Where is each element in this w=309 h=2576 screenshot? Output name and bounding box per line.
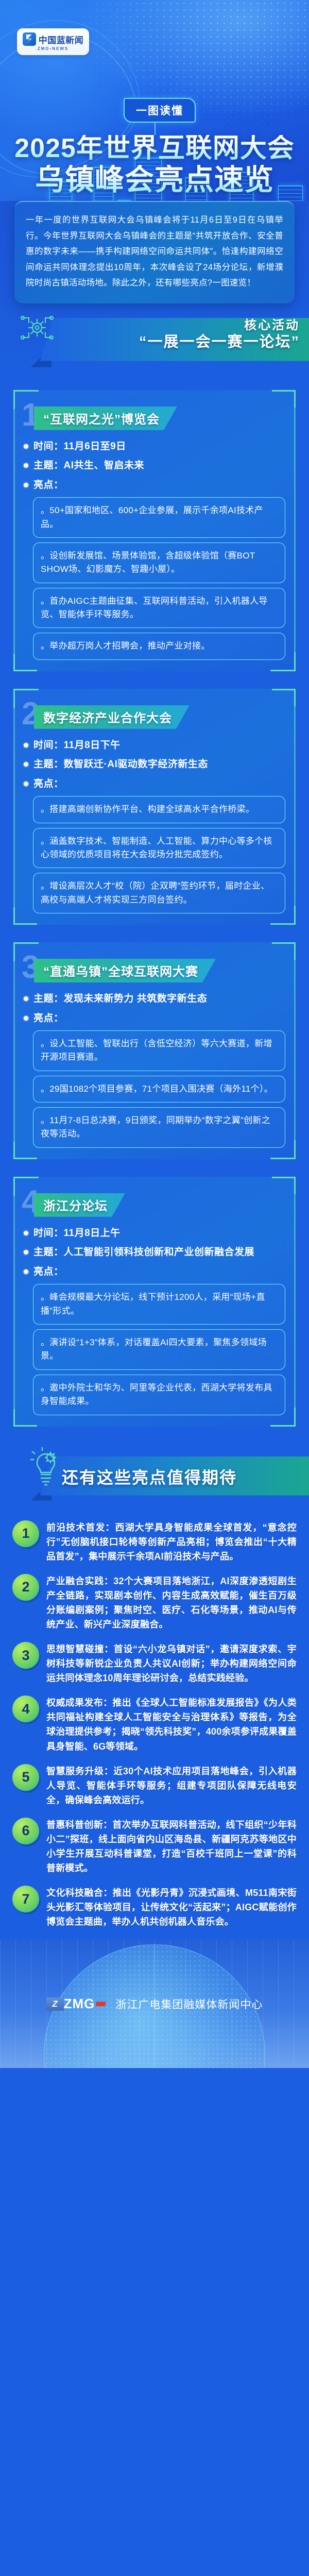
card-edge-right xyxy=(294,1194,296,1409)
section-bullet: 主题：人工智能引领科技创新和产业创新融合发展 xyxy=(24,1245,288,1260)
highlight-box: 。设创新发展馆、场景体验馆，含超级体验馆（赛BOT SHOW场、幻影魔方、智趣小… xyxy=(33,543,285,583)
point-text: 智慧服务升级：近30个AI技术应用项目落地峰会，引入机器人导览、智能体手环等服务… xyxy=(46,1764,297,1807)
footer-org-name: 浙江广电集团融媒体新闻中心 xyxy=(115,1996,263,2012)
highlight-text: 。涵盖数字技术、智能制造、人工智能、算力中心等多个核心领域的优质项目将在大会现场… xyxy=(41,835,278,862)
bullet-text: 主题：发现未来新势力 共筑数字新生态 xyxy=(33,992,207,1006)
bullet-text: 时间：11月6日至9日 xyxy=(33,439,126,454)
bullet-label: 亮点： xyxy=(33,480,64,490)
highlight-box: 。29国1082个项目参赛，71个项目入围决赛（海外11个）。 xyxy=(33,1076,285,1103)
bullet-dot-icon xyxy=(24,782,28,786)
section-title-pill: “直通乌镇”全球互联网大赛 xyxy=(34,959,216,982)
bullet-text: 主题：数智跃迁·AI驱动数字经济新生态 xyxy=(33,757,208,772)
footer-credit: Z ZMG 浙江广电集团融媒体新闻中心 xyxy=(0,1996,309,2012)
zmg-logo-mark xyxy=(23,32,36,46)
bullet-label: 主题： xyxy=(33,1247,64,1258)
core-section-card: 2数字经济产业合作大会时间：11月8日下午主题：数智跃迁·AI驱动数字经济新生态… xyxy=(13,689,296,925)
point-text: 普惠科普创新：首次举办互联网科普活动，线下组织“少年科小二”探班，线上面向省内山… xyxy=(46,1818,297,1875)
core-sections-list: 1“互联网之光”博览会时间：11月6日至9日主题：AI共生、智启未来亮点：。50… xyxy=(0,390,309,1427)
bullet-label: 亮点： xyxy=(33,778,64,789)
zmg-footer-dash xyxy=(96,2002,106,2006)
intro-card: 一年一度的世界互联网大会乌镇峰会将于11月6日至9日在乌镇举行。今年世界互联网大… xyxy=(14,201,295,303)
logo-cn-text: 中国蓝新闻 xyxy=(39,33,84,46)
section-title: “直通乌镇”全球互联网大赛 xyxy=(43,961,198,979)
point-number-badge: 7 xyxy=(12,1886,39,1912)
highlight-box: 。11月7-8日总决赛，9日颁奖，同期举办“数字之翼”创新之夜等活动。 xyxy=(33,1107,285,1148)
bullet-text: 主题：AI共生、智启未来 xyxy=(33,459,144,473)
bullet-label: 亮点： xyxy=(33,1266,64,1277)
highlight-text: 。首办AIGC主题曲征集、互联网科普活动，引入机器人导览、智能体手环等服务。 xyxy=(41,595,278,622)
section-bullet: 时间：11月8日上午 xyxy=(24,1226,288,1241)
point-number-badge: 3 xyxy=(12,1642,39,1669)
section-bullet: 亮点： xyxy=(24,777,288,791)
logo-en-news: NEWS xyxy=(52,46,68,51)
section-header: 3“直通乌镇”全球互联网大赛 xyxy=(21,955,288,985)
core-banner-text: 核心活动 “一展一会一赛一论坛” xyxy=(139,319,300,351)
point-number-badge: 5 xyxy=(12,1764,39,1791)
highlight-text: 。举办超万岗人才招聘会，推动产业对接。 xyxy=(41,639,278,653)
bullet-dot-icon xyxy=(24,1016,28,1021)
section-title: “互联网之光”博览会 xyxy=(43,409,160,427)
bullet-dot-icon xyxy=(24,1231,28,1235)
bullet-label: 主题： xyxy=(33,993,64,1004)
card-edge-right xyxy=(294,960,296,1142)
bullet-text: 亮点： xyxy=(33,777,64,791)
section-bullet: 亮点： xyxy=(24,478,288,493)
bullet-text: 时间：11月8日上午 xyxy=(33,1226,121,1241)
point-number-badge: 2 xyxy=(12,1574,39,1601)
point-text: 权威成果发布：推出《全球人工智能标准发展报告》《为人类共同福祉构建全球人工智能安… xyxy=(46,1696,297,1753)
section-bullet: 亮点： xyxy=(24,1265,288,1279)
highlight-box: 。增设高层次人才“校（院）企双聘”签约环节，届时企业、高校与高端人才将实现三方同… xyxy=(33,873,285,913)
section-bullet: 主题：AI共生、智启未来 xyxy=(24,459,288,473)
bullet-value: 发现未来新势力 共筑数字新生态 xyxy=(64,993,208,1004)
bullet-dot-icon xyxy=(24,743,28,748)
card-edge-left xyxy=(13,1194,15,1409)
bullet-dot-icon xyxy=(24,444,28,449)
bullet-label: 主题： xyxy=(33,460,64,471)
card-edge-left xyxy=(13,706,15,907)
highlight-text: 。增设高层次人才“校（院）企双聘”签约环节，届时企业、高校与高端人才将实现三方同… xyxy=(41,879,278,907)
highlight-text: 。设人工智能、智联出行（含低空经济）等六大赛道，新增开源项目赛道。 xyxy=(41,1037,278,1064)
intro-paragraph: 一年一度的世界互联网大会乌镇峰会将于11月6日至9日在乌镇举行。今年世界互联网大… xyxy=(26,212,283,291)
title-line-1: 2025年世界互联网大会 xyxy=(0,135,309,162)
card-edge-left xyxy=(13,408,15,654)
section-bullet: 时间：11月6日至9日 xyxy=(24,439,288,454)
bullet-text: 主题：人工智能引领科技创新和产业创新融合发展 xyxy=(33,1245,254,1260)
highlight-point-item: 1前沿技术首发：西湖大学具身智能成果全球首发，“意念控行”无创脑机接口轮椅等创新… xyxy=(12,1520,297,1564)
bullet-value: 数智跃迁·AI驱动数字经济新生态 xyxy=(64,759,208,770)
more-highlights-banner: 还有这些亮点值得期待 xyxy=(0,1444,309,1511)
highlight-text: 。搭建高端创新协作平台、构建全球高水平合作桥梁。 xyxy=(41,803,278,816)
bullet-label: 时间： xyxy=(33,740,64,751)
section-bullet: 时间：11月8日下午 xyxy=(24,738,288,753)
bullet-dot-icon xyxy=(24,1250,28,1255)
point-number-badge: 1 xyxy=(12,1520,39,1547)
zmg-footer-logo: Z ZMG xyxy=(46,1996,107,2012)
highlight-box: 。演讲设“1+3”体系，对话覆盖AI四大要素，聚焦多领域场景。 xyxy=(33,1329,285,1370)
section-bullet: 主题：发现未来新势力 共筑数字新生态 xyxy=(24,992,288,1006)
highlight-text: 。演讲设“1+3”体系，对话覆盖AI四大要素，聚焦多领域场景。 xyxy=(41,1336,278,1363)
logo-en-zmg: ZMG xyxy=(38,46,50,51)
core-section-card: 1“互联网之光”博览会时间：11月6日至9日主题：AI共生、智启未来亮点：。50… xyxy=(13,390,296,671)
bullet-dot-icon xyxy=(24,483,28,487)
bullet-text: 亮点： xyxy=(33,478,64,493)
bullet-value: 11月6日至9日 xyxy=(64,441,126,452)
logo-en-text: ZMG•NEWS xyxy=(38,46,69,51)
highlight-points-list: 1前沿技术首发：西湖大学具身智能成果全球首发，“意念控行”无创脑机接口轮椅等创新… xyxy=(0,1511,309,1929)
section-header: 4浙江分论坛 xyxy=(21,1189,288,1219)
bullet-label: 主题： xyxy=(33,759,64,770)
highlight-point-item: 4权威成果发布：推出《全球人工智能标准发展报告》《为人类共同福祉构建全球人工智能… xyxy=(12,1696,297,1753)
section-title-pill: 数字经济产业合作大会 xyxy=(34,705,190,729)
point-text: 思想智慧碰撞：首设“六小龙乌镇对话”，邀请深度求索、宇树科技等新锐企业负责人共议… xyxy=(46,1642,297,1685)
highlight-box: 。峰会规模最大分论坛，线下预计1200人，采用“现场+直播”形式。 xyxy=(33,1284,285,1325)
highlight-box: 。邀中外院士和华为、阿里等企业代表，西湖大学将发布具身智能成果。 xyxy=(33,1375,285,1415)
core-section-card: 3“直通乌镇”全球互联网大赛主题：发现未来新势力 共筑数字新生态亮点：。设人工智… xyxy=(13,942,296,1159)
card-corner-bottom-left xyxy=(13,1409,37,1427)
bullet-dot-icon xyxy=(24,1269,28,1274)
card-corner-bottom-left xyxy=(13,1142,37,1159)
chip-gear-icon xyxy=(19,312,56,344)
section-header: 2数字经济产业合作大会 xyxy=(21,701,288,731)
read-in-one-image-badge: 一图读懂 xyxy=(124,98,196,123)
bullet-text: 亮点： xyxy=(33,1011,64,1026)
point-text: 前沿技术首发：西湖大学具身智能成果全球首发，“意念控行”无创脑机接口轮椅等创新产… xyxy=(46,1520,297,1564)
point-number-badge: 6 xyxy=(12,1818,39,1844)
section-title: 数字经济产业合作大会 xyxy=(43,708,172,726)
highlight-text: 。设创新发展馆、场景体验馆，含超级体验馆（赛BOT SHOW场、幻影魔方、智趣小… xyxy=(41,549,278,577)
point-number-badge: 4 xyxy=(12,1696,39,1722)
core-activity-banner: 核心活动 “一展一会一赛一论坛” xyxy=(0,309,309,381)
section-title: 浙江分论坛 xyxy=(43,1196,108,1214)
more-banner-title: 还有这些亮点值得期待 xyxy=(62,1465,237,1488)
bullet-dot-icon xyxy=(24,463,28,468)
zmg-footer-mark: Z xyxy=(46,1997,64,2011)
zmg-news-logo: 中国蓝新闻 ZMG•NEWS xyxy=(17,28,89,55)
bullet-text: 时间：11月8日下午 xyxy=(33,738,121,753)
highlight-box: 。50+国家和地区、600+企业参展，展示千余项AI技术产品。 xyxy=(33,497,285,538)
card-edge-left xyxy=(13,960,15,1142)
bullet-label: 时间： xyxy=(33,441,64,452)
bullet-text: 亮点： xyxy=(33,1265,64,1279)
highlight-text: 。29国1082个项目参赛，71个项目入围决赛（海外11个）。 xyxy=(41,1082,278,1096)
section-bullet: 亮点： xyxy=(24,1011,288,1026)
core-section-card: 4浙江分论坛时间：11月8日上午主题：人工智能引领科技创新和产业创新融合发展亮点… xyxy=(13,1177,296,1427)
zmg-footer-initial: Z xyxy=(52,1999,57,2009)
highlight-text: 。50+国家和地区、600+企业参展，展示千余项AI技术产品。 xyxy=(41,504,278,531)
page-title: 2025年世界互联网大会 乌镇峰会亮点速览 xyxy=(0,135,309,195)
zmg-footer-text: ZMG xyxy=(64,1996,95,2012)
highlight-box: 。搭建高端创新协作平台、构建全球高水平合作桥梁。 xyxy=(33,796,285,823)
card-corner-bottom-left xyxy=(13,907,37,925)
point-text: 产业融合实践：32个大赛项目落地浙江，AI深度渗透短剧生产全链路，实现剧本创作、… xyxy=(46,1574,297,1632)
bullet-value: 人工智能引领科技创新和产业创新融合发展 xyxy=(64,1247,255,1258)
section-bullet: 主题：数智跃迁·AI驱动数字经济新生态 xyxy=(24,757,288,772)
bullet-dot-icon xyxy=(24,762,28,767)
highlight-text: 。邀中外院士和华为、阿里等企业代表，西湖大学将发布具身智能成果。 xyxy=(41,1381,278,1409)
section-header: 1“互联网之光”博览会 xyxy=(21,402,288,432)
lightbulb-gear-icon xyxy=(27,1444,65,1488)
highlight-point-item: 2产业融合实践：32个大赛项目落地浙江，AI深度渗透短剧生产全链路，实现剧本创作… xyxy=(12,1574,297,1632)
highlight-box: 。设人工智能、智联出行（含低空经济）等六大赛道，新增开源项目赛道。 xyxy=(33,1030,285,1071)
card-edge-right xyxy=(294,408,296,654)
core-banner-line-1: 核心活动 xyxy=(139,319,300,332)
highlight-text: 。峰会规模最大分论坛，线下预计1200人，采用“现场+直播”形式。 xyxy=(41,1291,278,1318)
page-footer: Z ZMG 浙江广电集团融媒体新闻中心 xyxy=(0,1939,309,2068)
card-edge-right xyxy=(294,706,296,907)
point-text: 文化科技融合：推出《光影丹青》沉浸式画境、M511南宋街头光影汇等体验项目，让传… xyxy=(46,1886,297,1929)
bullet-value: 11月8日下午 xyxy=(64,740,121,751)
highlight-box: 。涵盖数字技术、智能制造、人工智能、算力中心等多个核心领域的优质项目将在大会现场… xyxy=(33,828,285,869)
highlight-point-item: 6普惠科普创新：首次举办互联网科普活动，线下组织“少年科小二”探班，线上面向省内… xyxy=(12,1818,297,1875)
bullet-label: 时间： xyxy=(33,1228,64,1239)
bullet-label: 亮点： xyxy=(33,1013,64,1024)
highlight-point-item: 5智慧服务升级：近30个AI技术应用项目落地峰会，引入机器人导览、智能体手环等服… xyxy=(12,1764,297,1807)
bullet-value: AI共生、智启未来 xyxy=(64,460,145,471)
highlight-box: 。举办超万岗人才招聘会，推动产业对接。 xyxy=(33,633,285,659)
highlight-text: 。11月7-8日总决赛，9日颁奖，同期举办“数字之翼”创新之夜等活动。 xyxy=(41,1114,278,1141)
highlight-point-item: 3思想智慧碰撞：首设“六小龙乌镇对话”，邀请深度求索、宇树科技等新锐企业负责人共… xyxy=(12,1642,297,1685)
title-line-2: 乌镇峰会亮点速览 xyxy=(0,165,309,195)
bullet-value: 11月8日上午 xyxy=(64,1228,121,1239)
intro-section: 一年一度的世界互联网大会乌镇峰会将于11月6日至9日在乌镇举行。今年世界互联网大… xyxy=(0,201,309,390)
core-banner-line-2: “一展一会一赛一论坛” xyxy=(139,333,300,351)
highlight-box: 。首办AIGC主题曲征集、互联网科普活动，引入机器人导览、智能体手环等服务。 xyxy=(33,588,285,629)
section-title-pill: “互联网之光”博览会 xyxy=(34,406,177,430)
section-title-pill: 浙江分论坛 xyxy=(34,1193,125,1217)
bullet-dot-icon xyxy=(24,996,28,1001)
card-corner-bottom-left xyxy=(13,654,37,671)
highlight-point-item: 7文化科技融合：推出《光影丹青》沉浸式画境、M511南宋街头光影汇等体验项目，让… xyxy=(12,1886,297,1929)
